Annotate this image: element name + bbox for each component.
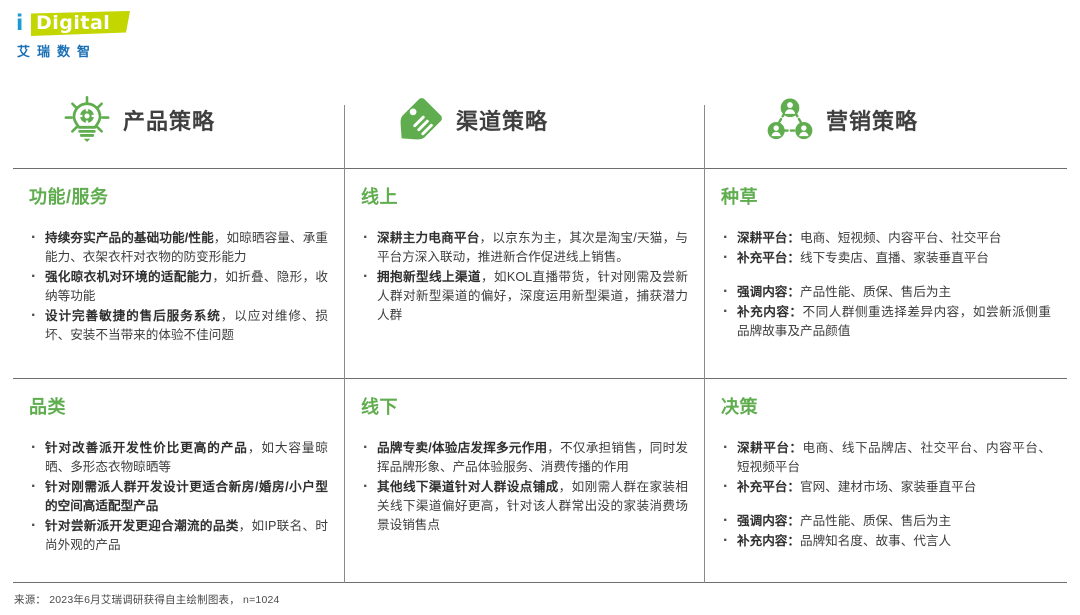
price-tag-icon <box>394 94 446 146</box>
bullet-strong: 其他线下渠道针对人群设点铺成 <box>377 480 559 494</box>
logo-mark: i Digital <box>14 10 132 38</box>
bullet-item: 强调内容：产品性能、质保、售后为主 <box>721 512 1051 531</box>
header-title-marketing-strategy: 营销策略 <box>826 104 918 136</box>
bullet-item: 针对刚需派人群开发设计更适合新房/婚房/小户型的空间高适配型产品 <box>29 478 328 516</box>
bullet-strong: 深耕平台： <box>737 231 800 245</box>
section-heading: 品类 <box>29 393 328 419</box>
bullet-item: 针对尝新派开发更迎合潮流的品类，如IP联名、时尚外观的产品 <box>29 517 328 555</box>
logo-wordmark: Digital <box>36 11 110 36</box>
logo-chinese-name: 艾瑞数智 <box>17 41 97 60</box>
bullet-item: 品牌专卖/体验店发挥多元作用，不仅承担销售，同时发挥品牌形象、产品体验服务、消费… <box>361 439 688 477</box>
bullet-item: 补充内容：不同人群侧重选择差异内容，如尝新派侧重品牌故事及产品颜值 <box>721 303 1051 341</box>
cell-marketing-decision: 决策 深耕平台：电商、线下品牌店、社交平台、内容平台、短视频平台补充平台：官网、… <box>705 379 1067 582</box>
strategy-matrix: 产品策略 渠道策略 <box>13 72 1067 583</box>
bullet-list: 深耕平台：电商、线下品牌店、社交平台、内容平台、短视频平台补充平台：官网、建材市… <box>721 439 1051 551</box>
cell-marketing-seeding: 种草 深耕平台：电商、短视频、内容平台、社交平台补充平台：线下专卖店、直播、家装… <box>705 169 1067 378</box>
logo-letter-i: i <box>16 11 23 36</box>
section-heading: 线上 <box>361 183 688 209</box>
bullet-item: 补充内容：品牌知名度、故事、代言人 <box>721 532 1051 551</box>
bullet-list: 品牌专卖/体验店发挥多元作用，不仅承担销售，同时发挥品牌形象、产品体验服务、消费… <box>361 439 688 535</box>
bullet-item: 深耕主力电商平台，以京东为主，其次是淘宝/天猫，与平台方深入联动，推进新合作促进… <box>361 229 688 267</box>
cell-product-category: 品类 针对改善派开发性价比更高的产品，如大容量晾晒、多形态衣物晾晒等针对刚需派人… <box>13 379 344 582</box>
section-heading: 功能/服务 <box>29 183 328 209</box>
section-heading: 种草 <box>721 183 1051 209</box>
iresearch-logo: i Digital 艾瑞数智 <box>14 10 134 58</box>
bottom-divider <box>13 582 1067 583</box>
header-title-product-strategy: 产品策略 <box>123 104 215 136</box>
bullet-strong: 针对尝新派开发更迎合潮流的品类 <box>45 519 239 533</box>
bullet-strong: 持续夯实产品的基础功能/性能 <box>45 231 214 245</box>
people-network-icon <box>764 94 816 146</box>
section-heading: 线下 <box>361 393 688 419</box>
source-note: 来源： 2023年6月艾瑞调研获得自主绘制图表， n=1024 <box>14 592 280 607</box>
bullet-text: 产品性能、质保、售后为主 <box>800 514 951 528</box>
bullet-strong: 拥抱新型线上渠道 <box>377 270 481 284</box>
bullet-strong: 针对刚需派人群开发设计更适合新房/婚房/小户型的空间高适配型产品 <box>45 480 328 513</box>
header-title-channel-strategy: 渠道策略 <box>456 104 548 136</box>
bullet-strong: 强调内容： <box>737 285 800 299</box>
bullet-text: 产品性能、质保、售后为主 <box>800 285 951 299</box>
bullet-strong: 品牌专卖/体验店发挥多元作用 <box>377 441 547 455</box>
bullet-item: 强调内容：产品性能、质保、售后为主 <box>721 283 1051 302</box>
cell-product-function-service: 功能/服务 持续夯实产品的基础功能/性能，如晾晒容量、承重能力、衣架衣杆对衣物的… <box>13 169 344 378</box>
bullet-item: 强化晾衣机对环境的适配能力，如折叠、隐形，收纳等功能 <box>29 268 328 306</box>
bullet-strong: 强化晾衣机对环境的适配能力 <box>45 270 212 284</box>
bullet-item: 拥抱新型线上渠道，如KOL直播带货，针对刚需及尝新人群对新型渠道的偏好，深度运用… <box>361 268 688 325</box>
header-cell-product-strategy: 产品策略 <box>13 72 344 168</box>
bullet-list: 持续夯实产品的基础功能/性能，如晾晒容量、承重能力、衣架衣杆对衣物的防变形能力强… <box>29 229 328 345</box>
bullet-list: 深耕平台：电商、短视频、内容平台、社交平台补充平台：线下专卖店、直播、家装垂直平… <box>721 229 1051 341</box>
bullet-item: 深耕平台：电商、线下品牌店、社交平台、内容平台、短视频平台 <box>721 439 1051 477</box>
bullet-strong: 补充平台： <box>737 480 800 494</box>
bullet-item: 设计完善敏捷的售后服务系统，以应对维修、损坏、安装不当带来的体验不佳问题 <box>29 307 328 345</box>
bullet-strong: 设计完善敏捷的售后服务系统 <box>45 309 221 323</box>
bullet-strong: 补充平台： <box>737 251 800 265</box>
bullet-list: 深耕主力电商平台，以京东为主，其次是淘宝/天猫，与平台方深入联动，推进新合作促进… <box>361 229 688 325</box>
bullet-item: 持续夯实产品的基础功能/性能，如晾晒容量、承重能力、衣架衣杆对衣物的防变形能力 <box>29 229 328 267</box>
matrix-header-row: 产品策略 渠道策略 <box>13 72 1067 168</box>
lightbulb-gear-icon <box>61 94 113 146</box>
bullet-strong: 强调内容： <box>737 514 800 528</box>
header-cell-marketing-strategy: 营销策略 <box>704 72 1067 168</box>
bullet-text: 线下专卖店、直播、家装垂直平台 <box>800 251 989 265</box>
bullet-item: 补充平台：官网、建材市场、家装垂直平台 <box>721 478 1051 497</box>
bullet-strong: 针对改善派开发性价比更高的产品 <box>45 441 248 455</box>
bullet-strong: 补充内容： <box>737 534 800 548</box>
bullet-text: 电商、短视频、内容平台、社交平台 <box>800 231 1002 245</box>
bullet-list: 针对改善派开发性价比更高的产品，如大容量晾晒、多形态衣物晾晒等针对刚需派人群开发… <box>29 439 328 555</box>
header-cell-channel-strategy: 渠道策略 <box>344 72 704 168</box>
cell-channel-online: 线上 深耕主力电商平台，以京东为主，其次是淘宝/天猫，与平台方深入联动，推进新合… <box>345 169 704 378</box>
cell-channel-offline: 线下 品牌专卖/体验店发挥多元作用，不仅承担销售，同时发挥品牌形象、产品体验服务… <box>345 379 704 582</box>
bullet-text: 品牌知名度、故事、代言人 <box>800 534 951 548</box>
bullet-strong: 深耕平台： <box>737 441 803 455</box>
bullet-text: 官网、建材市场、家装垂直平台 <box>800 480 976 494</box>
bullet-strong: 深耕主力电商平台 <box>377 231 480 245</box>
section-heading: 决策 <box>721 393 1051 419</box>
bullet-strong: 补充内容： <box>737 305 803 319</box>
bullet-item: 针对改善派开发性价比更高的产品，如大容量晾晒、多形态衣物晾晒等 <box>29 439 328 477</box>
bullet-item: 深耕平台：电商、短视频、内容平台、社交平台 <box>721 229 1051 248</box>
bullet-item: 补充平台：线下专卖店、直播、家装垂直平台 <box>721 249 1051 268</box>
bullet-item: 其他线下渠道针对人群设点铺成，如刚需人群在家装相关线下渠道偏好更高，针对该人群常… <box>361 478 688 535</box>
